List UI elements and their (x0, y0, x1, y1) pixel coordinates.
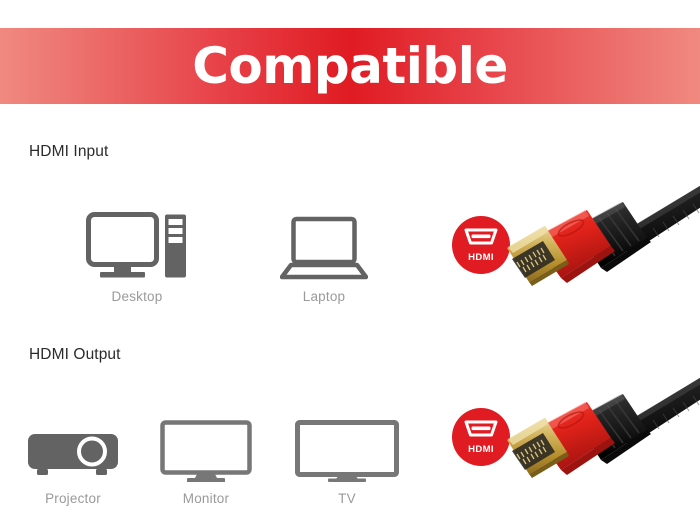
hdmi-cable-photo-output (505, 368, 700, 500)
monitor-icon (146, 398, 266, 482)
laptop-icon (264, 196, 384, 280)
desktop-computer-icon (77, 196, 197, 280)
device-item-monitor: Monitor (146, 398, 266, 506)
hdmi-port-icon (464, 420, 498, 442)
banner: Compatible (0, 28, 700, 104)
section-heading-hdmi-input: HDMI Input (29, 143, 108, 161)
device-caption: TV (287, 491, 407, 506)
hdmi-badge-label: HDMI (468, 253, 494, 263)
section-heading-hdmi-output: HDMI Output (29, 346, 121, 364)
device-caption: Projector (13, 491, 133, 506)
device-item-desktop: Desktop (77, 196, 197, 304)
hdmi-badge-label: HDMI (468, 445, 494, 455)
device-caption: Laptop (264, 289, 384, 304)
hdmi-badge-output: HDMI (452, 408, 510, 466)
device-item-projector: Projector (13, 398, 133, 506)
device-caption: Desktop (77, 289, 197, 304)
device-item-laptop: Laptop (264, 196, 384, 304)
projector-icon (13, 398, 133, 482)
page-title: Compatible (192, 41, 508, 91)
device-item-tv: TV (287, 398, 407, 506)
tv-icon (287, 398, 407, 482)
hdmi-port-icon (464, 228, 498, 250)
hdmi-badge-input: HDMI (452, 216, 510, 274)
device-caption: Monitor (146, 491, 266, 506)
hdmi-cable-photo-input (505, 176, 700, 308)
